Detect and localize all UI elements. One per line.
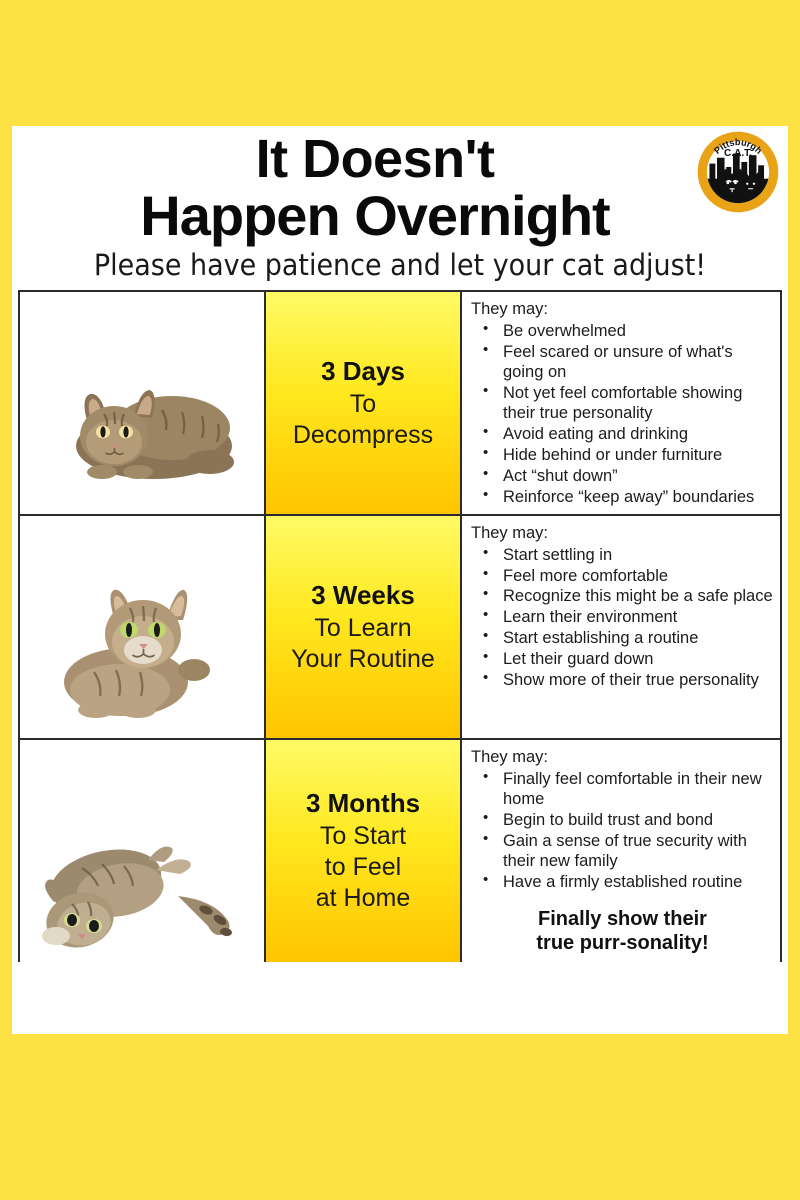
cat-loaf-illustration <box>42 354 247 484</box>
closing-statement: Finally show their true purr-sonality! <box>471 907 774 956</box>
stage-sub-line: Decompress <box>293 420 433 451</box>
poster-card: It Doesn't Happen Overnight Please have … <box>12 126 788 1034</box>
cat-lying-illustration <box>28 824 258 954</box>
list-item: Gain a sense of true security with their… <box>481 831 774 872</box>
table-row: 3 Months To Start to Feel at Home They m… <box>20 740 780 962</box>
table-row: 3 Weeks To Learn Your Routine They may: … <box>20 516 780 740</box>
list-item: Feel more comfortable <box>481 566 774 586</box>
list-item: Finally feel comfortable in their new ho… <box>481 769 774 810</box>
page-title-line1: It Doesn't <box>22 132 728 187</box>
they-may-label: They may: <box>471 524 774 543</box>
bullet-list: Be overwhelmed Feel scared or unsure of … <box>471 321 774 508</box>
list-item: Recognize this might be a safe place <box>481 586 774 606</box>
list-item: Show more of their true personality <box>481 670 774 690</box>
cat-photo-3-weeks <box>20 516 266 738</box>
list-item: Begin to build trust and bond <box>481 810 774 830</box>
bullet-list: Start settling in Feel more comfortable … <box>471 545 774 691</box>
stage-sub-line: Your Routine <box>291 644 435 675</box>
list-item: Not yet feel comfortable showing their t… <box>481 383 774 424</box>
pittsburgh-cat-logo: Pittsburgh Cat Adoption Team C.A.T. <box>696 130 780 214</box>
cat-photo-3-months <box>20 740 266 962</box>
logo-icon: Pittsburgh Cat Adoption Team C.A.T. <box>696 130 780 214</box>
stage-sub-line: to Feel <box>325 852 401 883</box>
list-item: Start establishing a routine <box>481 628 774 648</box>
stage-duration: 3 Weeks <box>311 580 415 611</box>
stage-sub-line: To Learn <box>314 613 411 644</box>
stage-duration: 3 Months <box>306 788 420 819</box>
page-title-line2: Happen Overnight <box>22 187 728 244</box>
stage-details-3-days: They may: Be overwhelmed Feel scared or … <box>462 292 780 514</box>
closing-line1: Finally show their <box>471 907 774 931</box>
closing-line2: true purr-sonality! <box>471 931 774 955</box>
stage-details-3-weeks: They may: Start settling in Feel more co… <box>462 516 780 738</box>
stages-table: 3 Days To Decompress They may: Be overwh… <box>18 290 782 962</box>
stage-sub-line: To <box>350 389 376 420</box>
list-item: Feel scared or unsure of what's going on <box>481 342 774 383</box>
page-subtitle: Please have patience and let your cat ad… <box>39 244 761 290</box>
stage-label-3-days: 3 Days To Decompress <box>266 292 462 514</box>
poster-header: It Doesn't Happen Overnight Please have … <box>12 126 788 290</box>
list-item: Reinforce “keep away” boundaries <box>481 487 774 507</box>
list-item: Act “shut down” <box>481 466 774 486</box>
stage-label-3-weeks: 3 Weeks To Learn Your Routine <box>266 516 462 738</box>
table-row: 3 Days To Decompress They may: Be overwh… <box>20 292 780 516</box>
stage-duration: 3 Days <box>321 356 405 387</box>
list-item: Let their guard down <box>481 649 774 669</box>
logo-center-text: C.A.T. <box>724 148 752 159</box>
list-item: Have a firmly established routine <box>481 872 774 892</box>
they-may-label: They may: <box>471 748 774 767</box>
list-item: Be overwhelmed <box>481 321 774 341</box>
cat-sitting-illustration <box>54 554 239 726</box>
cat-photo-3-days <box>20 292 266 514</box>
list-item: Start settling in <box>481 545 774 565</box>
bullet-list: Finally feel comfortable in their new ho… <box>471 769 774 893</box>
stage-label-3-months: 3 Months To Start to Feel at Home <box>266 740 462 962</box>
list-item: Avoid eating and drinking <box>481 424 774 444</box>
list-item: Learn their environment <box>481 607 774 627</box>
title-block: It Doesn't Happen Overnight <box>12 132 788 244</box>
stage-sub-line: at Home <box>316 883 410 914</box>
stage-details-3-months: They may: Finally feel comfortable in th… <box>462 740 780 962</box>
list-item: Hide behind or under furniture <box>481 445 774 465</box>
they-may-label: They may: <box>471 300 774 319</box>
stage-sub-line: To Start <box>320 821 406 852</box>
